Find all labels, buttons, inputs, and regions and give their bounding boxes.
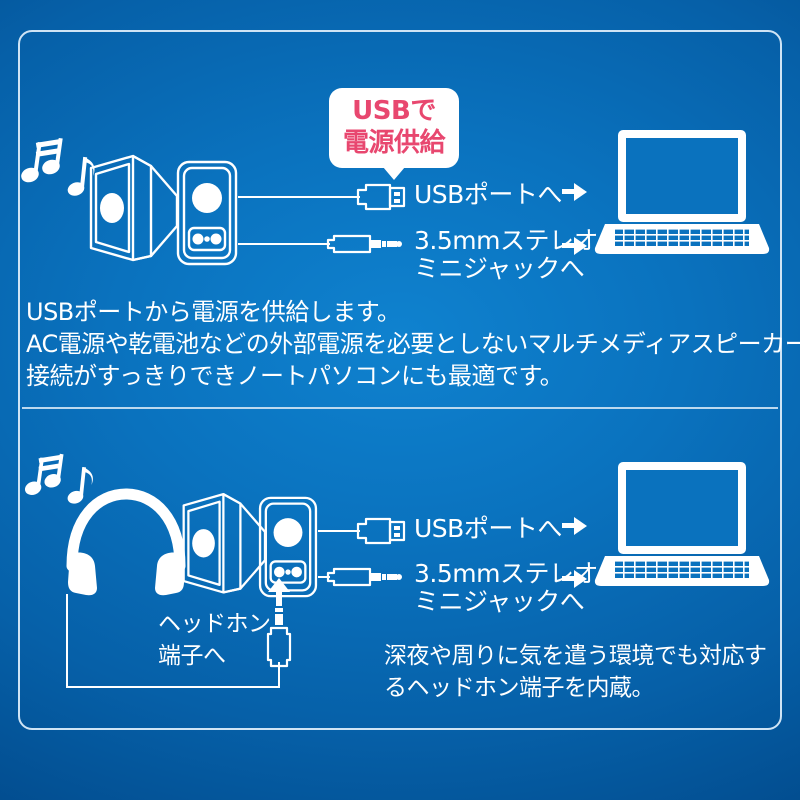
arrow-right-icon-bottom-jack	[574, 570, 587, 588]
callout-line-2: 電源供給	[329, 127, 459, 159]
headphone-cable-vertical	[66, 594, 68, 688]
headphone-cable-horizontal	[66, 686, 280, 688]
audio-jack-connector-icon	[326, 232, 406, 256]
top-paragraph-line1: USBポートから電源を供給します。	[26, 298, 400, 326]
callout-tail	[383, 167, 405, 180]
jack-cable-top	[238, 243, 330, 245]
laptop-icon-bottom	[593, 460, 771, 590]
infographic-canvas: USBポートへ 3.5mmステレオ ミニジャックへ USBで 電源供給	[0, 0, 800, 800]
speaker-front-icon	[174, 158, 240, 268]
usb-port-label-bottom: USBポートへ	[414, 514, 562, 543]
bottom-paragraph-line2: るヘッドホン端子を内蔵。	[384, 675, 654, 701]
top-paragraph: USBポートから電源を供給します。 AC電源や乾電池などの外部電源を必要としない…	[26, 296, 800, 392]
headphone-jack-label: ヘッドホン 端子へ	[158, 608, 271, 672]
headphones-icon	[64, 488, 188, 598]
top-paragraph-line3: 接続がすっきりできノートパソコンにも最適です。	[26, 362, 563, 390]
usb-cable-bottom	[318, 530, 360, 532]
speaker-front-icon-bottom	[256, 494, 320, 600]
top-paragraph-line2: AC電源や乾電池などの外部電源を必要としないマルチメディアスピーカーです。	[26, 330, 800, 358]
laptop-icon-top	[593, 128, 771, 258]
bottom-paragraph-line1: 深夜や周りに気を遣う環境でも対応す	[384, 643, 767, 669]
usb-connector-icon-bottom	[356, 516, 408, 546]
callout-line-1: USBで	[329, 95, 459, 127]
arrow-right-icon-top-jack	[574, 237, 587, 255]
stereo-jack-label-bottom-line1: 3.5mmステレオ	[414, 559, 598, 588]
bottom-paragraph: 深夜や周りに気を遣う環境でも対応す るヘッドホン端子を内蔵。	[384, 640, 767, 704]
usb-connector-icon	[356, 182, 408, 212]
arrow-right-icon-top-usb	[574, 183, 587, 201]
audio-jack-connector-icon-bottom	[326, 565, 406, 589]
usb-power-callout: USBで 電源供給	[329, 88, 459, 168]
stereo-jack-label-top-line1: 3.5mmステレオ	[414, 226, 598, 255]
usb-cable-top	[238, 196, 360, 198]
headphone-label-line2: 端子へ	[158, 643, 226, 669]
stereo-jack-label-bottom-line2: ミニジャックへ	[414, 587, 584, 616]
stereo-jack-label-top-line2: ミニジャックへ	[414, 254, 584, 283]
arrow-right-icon-bottom-usb	[574, 517, 587, 535]
section-divider	[22, 407, 778, 409]
headphone-label-line1: ヘッドホン	[158, 611, 271, 637]
usb-port-label-top: USBポートへ	[414, 180, 562, 209]
